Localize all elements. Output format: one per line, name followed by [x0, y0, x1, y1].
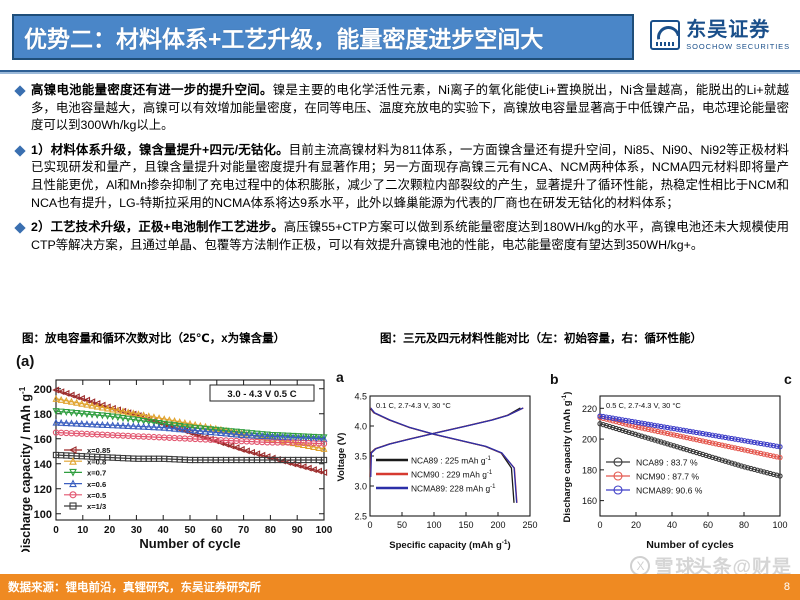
chart-b-ylabel: Voltage (V) [336, 433, 347, 482]
chart-b-annotation: 0.1 C, 2.7-4.3 V, 30 °C [376, 401, 451, 410]
chart-c-xlabel: Number of cycles [646, 539, 734, 551]
svg-text:x=0.7: x=0.7 [87, 469, 106, 478]
svg-text:160: 160 [34, 434, 52, 446]
svg-text:200: 200 [490, 520, 505, 530]
svg-text:NCM90 : 87.7 %: NCM90 : 87.7 % [636, 471, 699, 481]
chart-c-ylabel: Discharge capacity (mAh g-1) [561, 392, 573, 523]
logo-name-en: SOOCHOW SECURITIES [686, 43, 790, 51]
chart-capacity-retention: b c Discharge capacity (mAh g-1) 1601802… [548, 362, 796, 554]
bullet-lead-2: 1）材料体系升级，镍含量提升+四元/无钴化。 [31, 143, 289, 157]
company-logo: 东吴证券 SOOCHOW SECURITIES [650, 20, 790, 51]
bullet-item-2: 1）材料体系升级，镍含量提升+四元/无钴化。目前主流高镍材料为811体系，一方面… [14, 142, 789, 212]
svg-text:100: 100 [426, 520, 441, 530]
chart-discharge-vs-cycle: (a) Discharge capacity / mAh g-1 1001201… [14, 352, 334, 552]
svg-text:NCA89 : 83.7 %: NCA89 : 83.7 % [636, 457, 698, 467]
header-divider [0, 70, 800, 74]
svg-text:80: 80 [265, 525, 277, 536]
chart-c-annotation: 0.5 C, 2.7-4.3 V, 30 °C [606, 401, 681, 410]
svg-text:180: 180 [582, 465, 597, 475]
panel-letter-b-right: b [550, 371, 559, 387]
bullet-item-3: 2）工艺技术升级，正极+电池制作工艺进步。高压镍55+CTP方案可以做到系统能量… [14, 219, 789, 254]
chart-a-annotation: 3.0 - 4.3 V 0.5 C [210, 385, 314, 401]
svg-text:100: 100 [34, 509, 52, 521]
svg-text:x=1/3: x=1/3 [87, 502, 106, 511]
data-source-text: 数据来源：锂电前沿，真锂研究，东吴证券研究所 [0, 579, 261, 595]
chart-a-xlabel: Number of cycle [139, 536, 240, 551]
svg-text:4.0: 4.0 [354, 422, 367, 432]
slide-footer: 数据来源：锂电前沿，真锂研究，东吴证券研究所 8 [0, 574, 800, 600]
bullet-lead-3: 2）工艺技术升级，正极+电池制作工艺进步。 [31, 220, 284, 234]
page-number: 8 [784, 581, 790, 593]
svg-text:4.5: 4.5 [354, 392, 367, 402]
bullet-item-1: 高镍电池能量密度还有进一步的提升空间。镍是主要的电化学活性元素，Ni离子的氧化能… [14, 82, 789, 135]
chart-c-x-ticks: 020406080100 [597, 512, 787, 530]
svg-text:220: 220 [582, 404, 597, 414]
svg-text:60: 60 [211, 525, 223, 536]
bullet-text-1: 高镍电池能量密度还有进一步的提升空间。镍是主要的电化学活性元素，Ni离子的氧化能… [31, 82, 789, 135]
slide: 优势二：材料体系+工艺升级，能量密度进步空间大 东吴证券 SOOCHOW SEC… [0, 0, 800, 600]
svg-text:0: 0 [53, 525, 59, 536]
chart-c-plot-frame [600, 396, 780, 516]
panel-letter-c: c [784, 371, 792, 387]
bullet-text-3: 2）工艺技术升级，正极+电池制作工艺进步。高压镍55+CTP方案可以做到系统能量… [31, 219, 789, 254]
svg-text:100: 100 [772, 520, 787, 530]
soochow-logo-icon [650, 20, 680, 50]
svg-text:NCM90 : 229 mAh g-1: NCM90 : 229 mAh g-1 [411, 469, 493, 479]
panel-letter-b: a [336, 369, 344, 385]
chart-b-legend: NCA89 : 225 mAh g-1NCM90 : 229 mAh g-1NC… [376, 455, 496, 493]
diamond-bullet-icon [14, 145, 25, 156]
svg-text:80: 80 [739, 520, 749, 530]
svg-text:30: 30 [131, 525, 143, 536]
svg-text:200: 200 [582, 435, 597, 445]
body-content: 高镍电池能量密度还有进一步的提升空间。镍是主要的电化学活性元素，Ni离子的氧化能… [14, 82, 789, 261]
svg-text:10: 10 [77, 525, 89, 536]
svg-text:250: 250 [522, 520, 537, 530]
chart-b-svg: a Voltage (V) 2.53.03.54.04.5 0501001502… [330, 362, 545, 554]
svg-text:40: 40 [158, 525, 170, 536]
svg-text:160: 160 [582, 496, 597, 506]
diamond-bullet-icon [14, 85, 25, 96]
svg-text:0: 0 [597, 520, 602, 530]
bullet-lead-1: 高镍电池能量密度还有进一步的提升空间。 [31, 83, 273, 97]
logo-name-cn: 东吴证券 [686, 20, 790, 40]
chart-a-y-ticks: 100120140160180200 [34, 384, 324, 521]
svg-text:60: 60 [703, 520, 713, 530]
chart-a-ylabel: Discharge capacity / mAh g-1 [18, 386, 33, 552]
figure-caption-right: 图：三元及四元材料性能对比（左：初始容量，右：循环性能） [380, 330, 702, 346]
svg-text:20: 20 [631, 520, 641, 530]
svg-text:NCMA89: 228 mAh g-1: NCMA89: 228 mAh g-1 [411, 483, 496, 493]
svg-text:3.0 - 4.3 V 0.5 C: 3.0 - 4.3 V 0.5 C [227, 389, 296, 400]
chart-voltage-vs-capacity: a Voltage (V) 2.53.03.54.04.5 0501001502… [330, 362, 545, 554]
panel-letter-a: (a) [16, 353, 34, 370]
svg-text:3.5: 3.5 [354, 452, 367, 462]
svg-text:180: 180 [34, 409, 52, 421]
svg-text:120: 120 [34, 484, 52, 496]
title-bar: 优势二：材料体系+工艺升级，能量密度进步空间大 [12, 14, 634, 60]
logo-text: 东吴证券 SOOCHOW SECURITIES [686, 20, 790, 51]
chart-c-svg: b c Discharge capacity (mAh g-1) 1601802… [548, 362, 796, 554]
svg-text:150: 150 [458, 520, 473, 530]
chart-c-legend: NCA89 : 83.7 %NCM90 : 87.7 %NCMA89: 90.6… [606, 457, 703, 495]
svg-text:x=0.85: x=0.85 [87, 446, 111, 455]
chart-b-xlabel: Specific capacity (mAh g-1) [389, 539, 510, 551]
diamond-bullet-icon [14, 223, 25, 234]
svg-text:NCA89 : 225 mAh g-1: NCA89 : 225 mAh g-1 [411, 455, 491, 465]
svg-text:50: 50 [184, 525, 196, 536]
svg-text:NCMA89: 90.6 %: NCMA89: 90.6 % [636, 485, 703, 495]
chart-b-x-ticks: 050100150200250 [367, 512, 537, 530]
chart-c-series [598, 414, 782, 478]
svg-text:x=0.8: x=0.8 [87, 457, 106, 466]
svg-text:50: 50 [397, 520, 407, 530]
slide-header: 优势二：材料体系+工艺升级，能量密度进步空间大 东吴证券 SOOCHOW SEC… [0, 0, 800, 74]
bullet-text-2: 1）材料体系升级，镍含量提升+四元/无钴化。目前主流高镍材料为811体系，一方面… [31, 142, 789, 212]
svg-text:2.5: 2.5 [354, 512, 367, 522]
figure-caption-left: 图：放电容量和循环次数对比（25℃，x为镍含量） [22, 330, 285, 346]
svg-text:90: 90 [292, 525, 304, 536]
svg-text:200: 200 [34, 384, 52, 396]
svg-text:x=0.6: x=0.6 [87, 480, 106, 489]
svg-text:3.0: 3.0 [354, 482, 367, 492]
page-title: 优势二：材料体系+工艺升级，能量密度进步空间大 [14, 20, 543, 54]
svg-text:70: 70 [238, 525, 250, 536]
svg-text:x=0.5: x=0.5 [87, 491, 107, 500]
svg-text:40: 40 [667, 520, 677, 530]
watermark-circle-icon: X [630, 556, 650, 576]
svg-text:0: 0 [367, 520, 372, 530]
svg-text:20: 20 [104, 525, 116, 536]
chart-a-svg: (a) Discharge capacity / mAh g-1 1001201… [14, 352, 334, 552]
svg-text:140: 140 [34, 459, 52, 471]
